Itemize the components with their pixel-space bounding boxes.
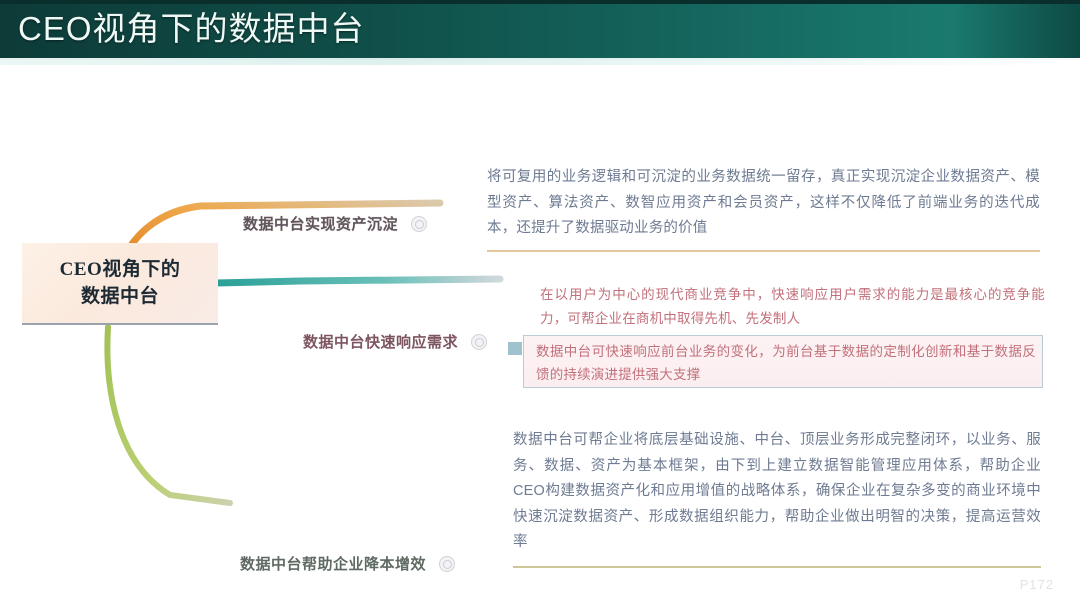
root-node-line-2: 数据中台: [60, 283, 181, 310]
connector-branch-2: [216, 279, 500, 283]
content-block-asset-precipitation: 将可复用的业务逻辑和可沉淀的业务数据统一留存，真正实现沉淀企业数据资产、模型资产…: [487, 165, 1040, 252]
root-node-line-1: CEO视角下的: [60, 256, 181, 283]
title-bar: CEO视角下的数据中台: [0, 0, 1080, 58]
connector-branch-3: [107, 327, 230, 503]
page-title: CEO视角下的数据中台: [18, 6, 365, 52]
page-marker: P172: [1020, 577, 1054, 592]
branch-label-cost-reduction[interactable]: 数据中台帮助企业降本增效: [240, 553, 455, 574]
content-block-fast-response-primary: 在以用户为中心的现代商业竞争中，快速响应用户需求的能力是最核心的竞争能力，可帮企…: [540, 283, 1045, 331]
branch-label-text: 数据中台帮助企业降本增效: [240, 553, 426, 574]
mindmap-canvas: CEO视角下的 数据中台 数据中台实现资产沉淀 数据中台快速响应需求 数据中台帮…: [0, 65, 1080, 608]
content-block-fast-response-secondary: 数据中台可快速响应前台业务的变化，为前台基于数据的定制化创新和基于数据反馈的持续…: [536, 340, 1036, 386]
branch-label-fast-response[interactable]: 数据中台快速响应需求: [303, 331, 487, 352]
title-bar-top-edge: [0, 0, 1080, 4]
circle-node-icon[interactable]: [411, 216, 427, 232]
root-node-label: CEO视角下的 数据中台: [60, 256, 181, 310]
title-underglow: [0, 58, 1080, 65]
circle-node-icon[interactable]: [439, 556, 455, 572]
branch-label-text: 数据中台快速响应需求: [303, 331, 458, 352]
branch-label-asset-precipitation[interactable]: 数据中台实现资产沉淀: [243, 213, 427, 234]
branch-label-text: 数据中台实现资产沉淀: [243, 213, 398, 234]
content-block-cost-reduction: 数据中台可帮企业将底层基础设施、中台、顶层业务形成完整闭环，以业务、服务、数据、…: [513, 428, 1041, 568]
root-node[interactable]: CEO视角下的 数据中台: [22, 243, 218, 325]
content-box-connector-stub: [508, 342, 522, 355]
circle-node-icon[interactable]: [471, 334, 487, 350]
